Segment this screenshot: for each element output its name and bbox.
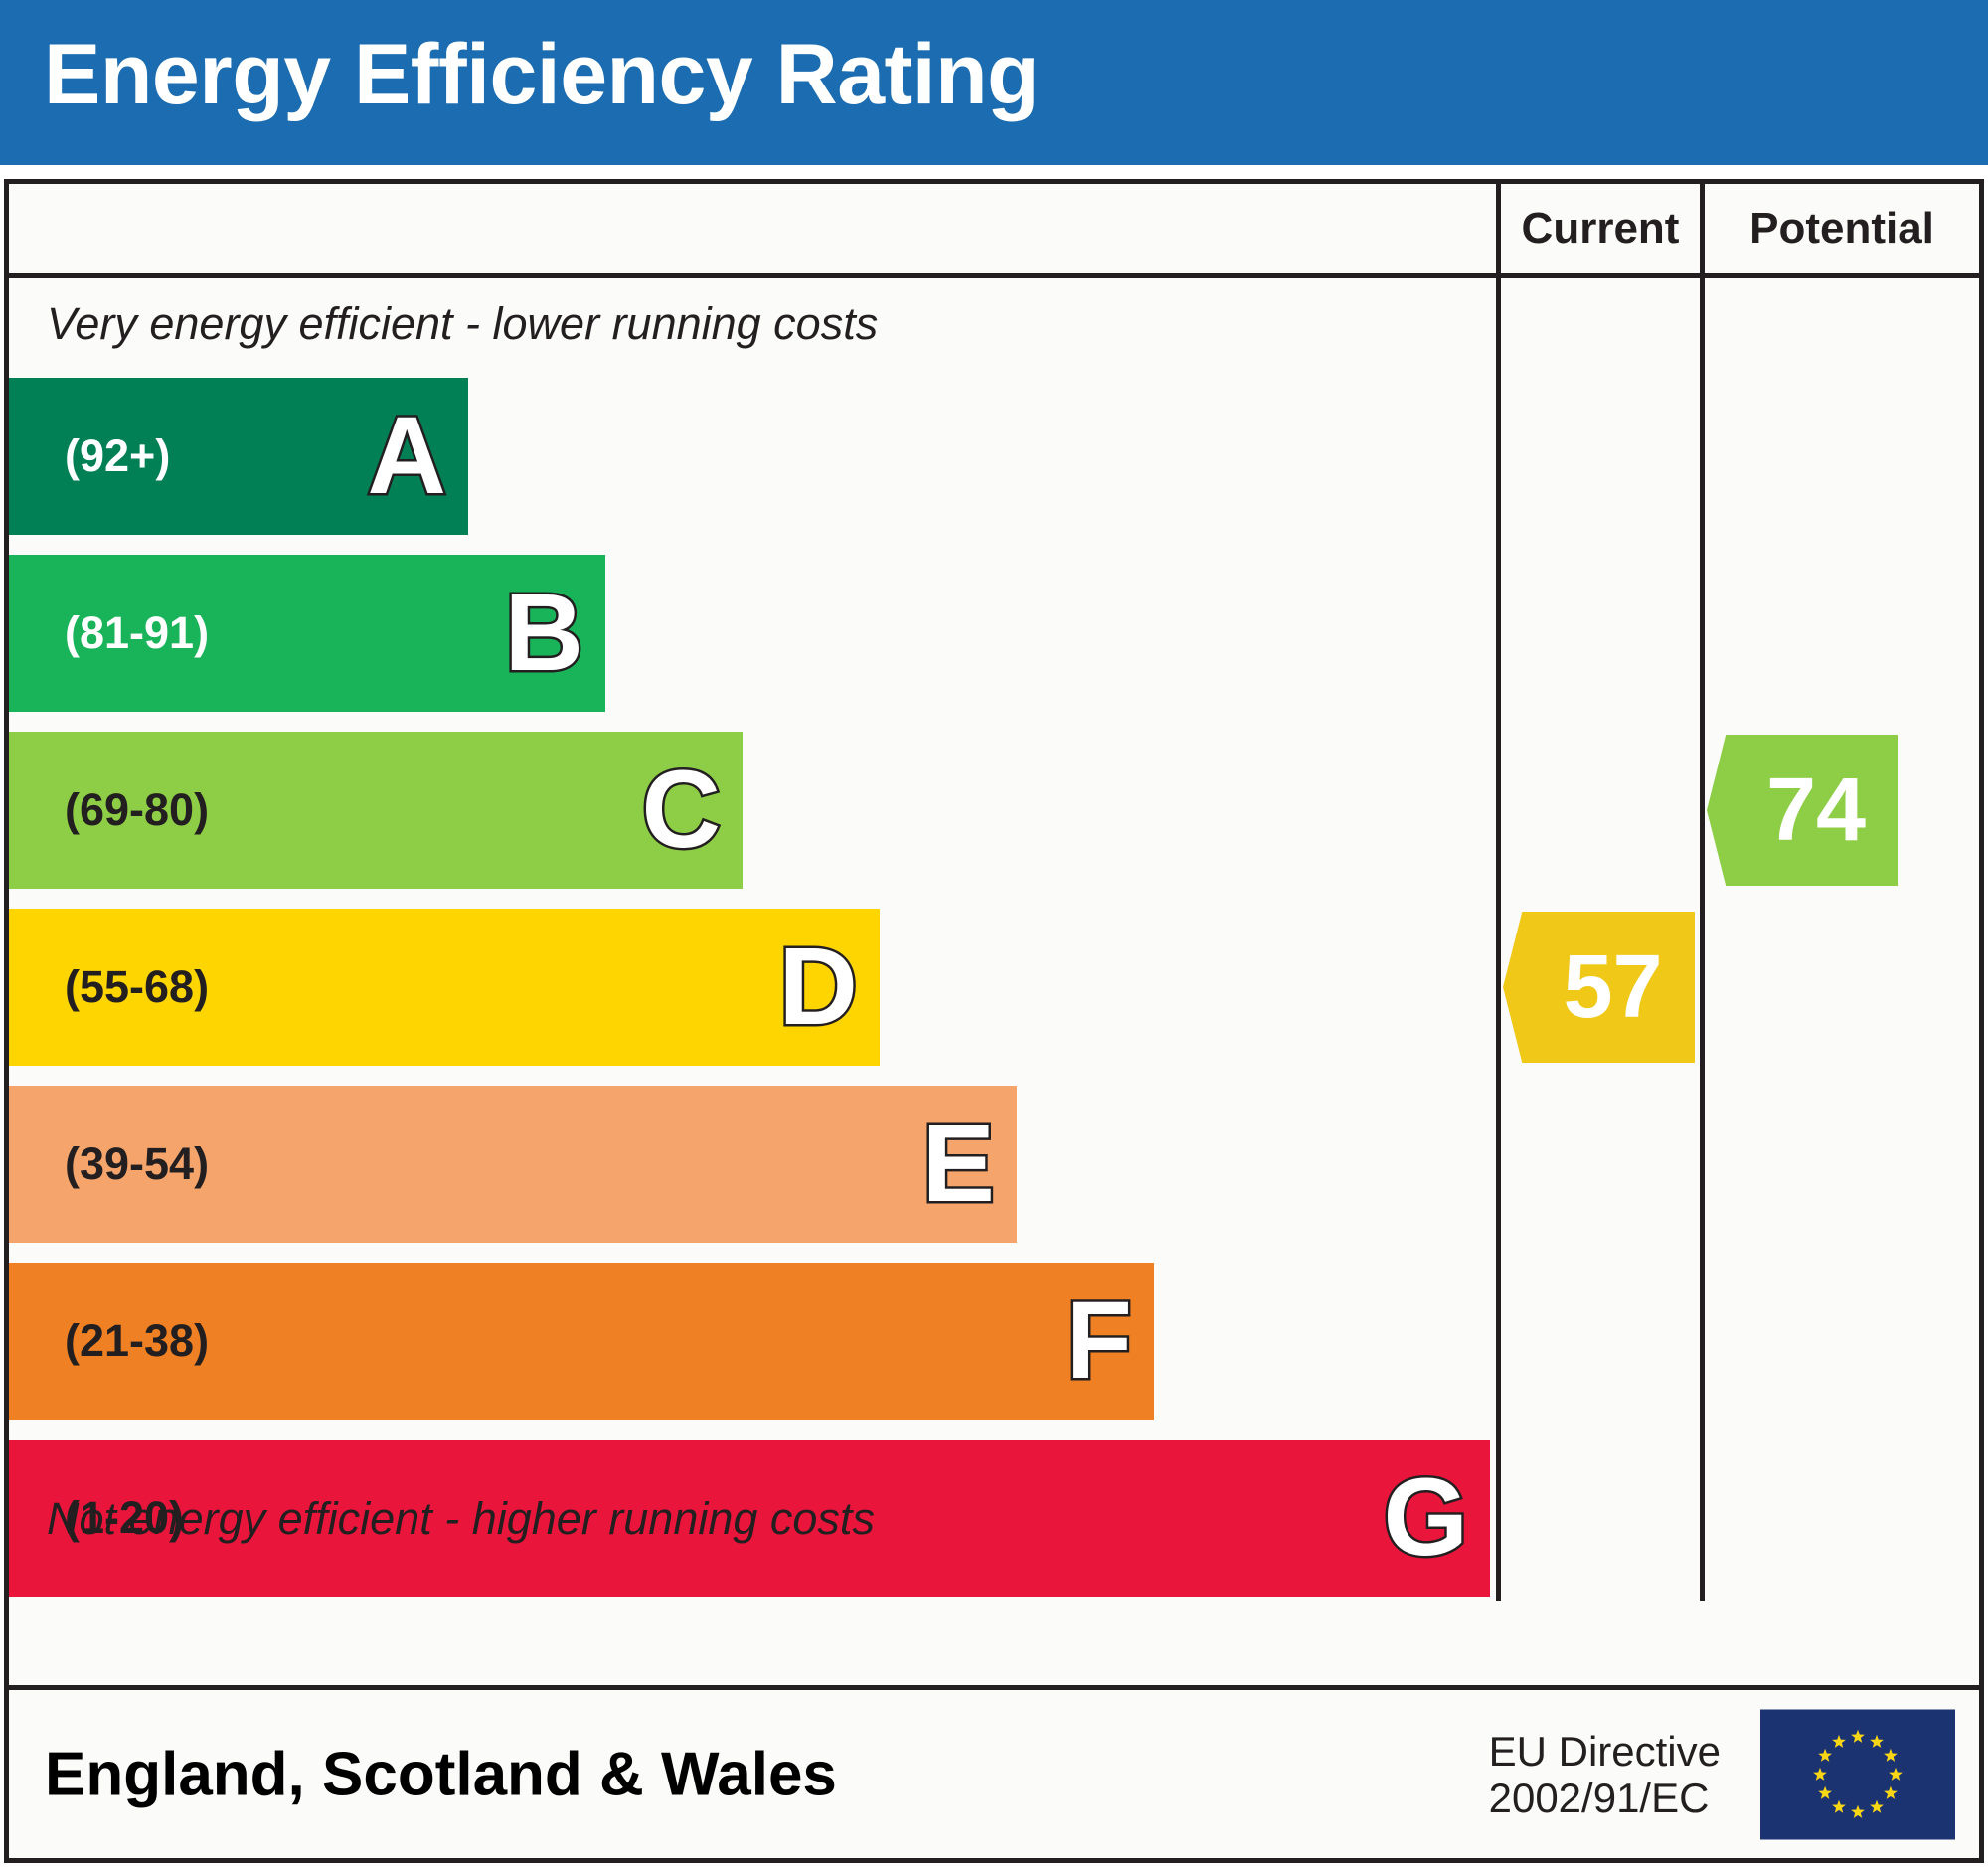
band-row-e: (39-54)E — [9, 1086, 1017, 1243]
band-letter-e: E — [922, 1109, 995, 1219]
band-letter-d: D — [779, 933, 858, 1042]
column-divider-potential — [1700, 278, 1705, 1601]
rating-table: Current Potential Very energy efficient … — [4, 179, 1984, 1690]
band-row-b: (81-91)B — [9, 555, 605, 712]
band-range-c: (69-80) — [65, 784, 209, 836]
band-range-e: (39-54) — [65, 1138, 209, 1190]
column-header-current: Current — [1496, 184, 1700, 273]
band-range-d: (55-68) — [65, 961, 209, 1013]
footer-bar: England, Scotland & Wales EU Directive 2… — [4, 1690, 1984, 1863]
band-row-d: (55-68)D — [9, 909, 880, 1066]
column-header-potential: Potential — [1700, 184, 1979, 273]
caption-inefficient: Not energy efficient - higher running co… — [47, 1493, 875, 1545]
directive-line-1: EU Directive — [1489, 1727, 1721, 1774]
caption-efficient: Very energy efficient - lower running co… — [47, 298, 878, 350]
footer-region-label: England, Scotland & Wales — [45, 1739, 837, 1809]
band-range-f: (21-38) — [65, 1315, 209, 1367]
band-letter-g: G — [1383, 1463, 1468, 1573]
potential-rating-arrow: 74 — [1707, 735, 1898, 886]
page-title: Energy Efficiency Rating — [44, 26, 1039, 124]
band-range-b: (81-91) — [65, 607, 209, 659]
current-rating-value: 57 — [1535, 942, 1662, 1032]
band-range-a: (92+) — [65, 430, 170, 482]
band-chart: Very energy efficient - lower running co… — [9, 278, 1496, 1601]
band-letter-c: C — [642, 756, 721, 865]
potential-rating-value: 74 — [1739, 765, 1866, 855]
band-row-c: (69-80)C — [9, 732, 743, 889]
band-letter-a: A — [368, 402, 446, 511]
band-row-f: (21-38)F — [9, 1263, 1154, 1420]
table-header-row: Current Potential — [9, 184, 1979, 278]
footer-directive-label: EU Directive 2002/91/EC — [1489, 1727, 1721, 1820]
band-letter-b: B — [505, 579, 583, 688]
band-row-a: (92+)A — [9, 378, 468, 535]
column-divider-current — [1496, 278, 1501, 1601]
title-banner: Energy Efficiency Rating — [0, 0, 1988, 165]
directive-line-2: 2002/91/EC — [1489, 1775, 1721, 1821]
current-rating-arrow: 57 — [1503, 912, 1695, 1063]
eu-flag-icon — [1760, 1709, 1955, 1839]
band-letter-f: F — [1066, 1286, 1132, 1396]
energy-efficiency-certificate: Energy Efficiency Rating Current Potenti… — [0, 0, 1988, 1867]
